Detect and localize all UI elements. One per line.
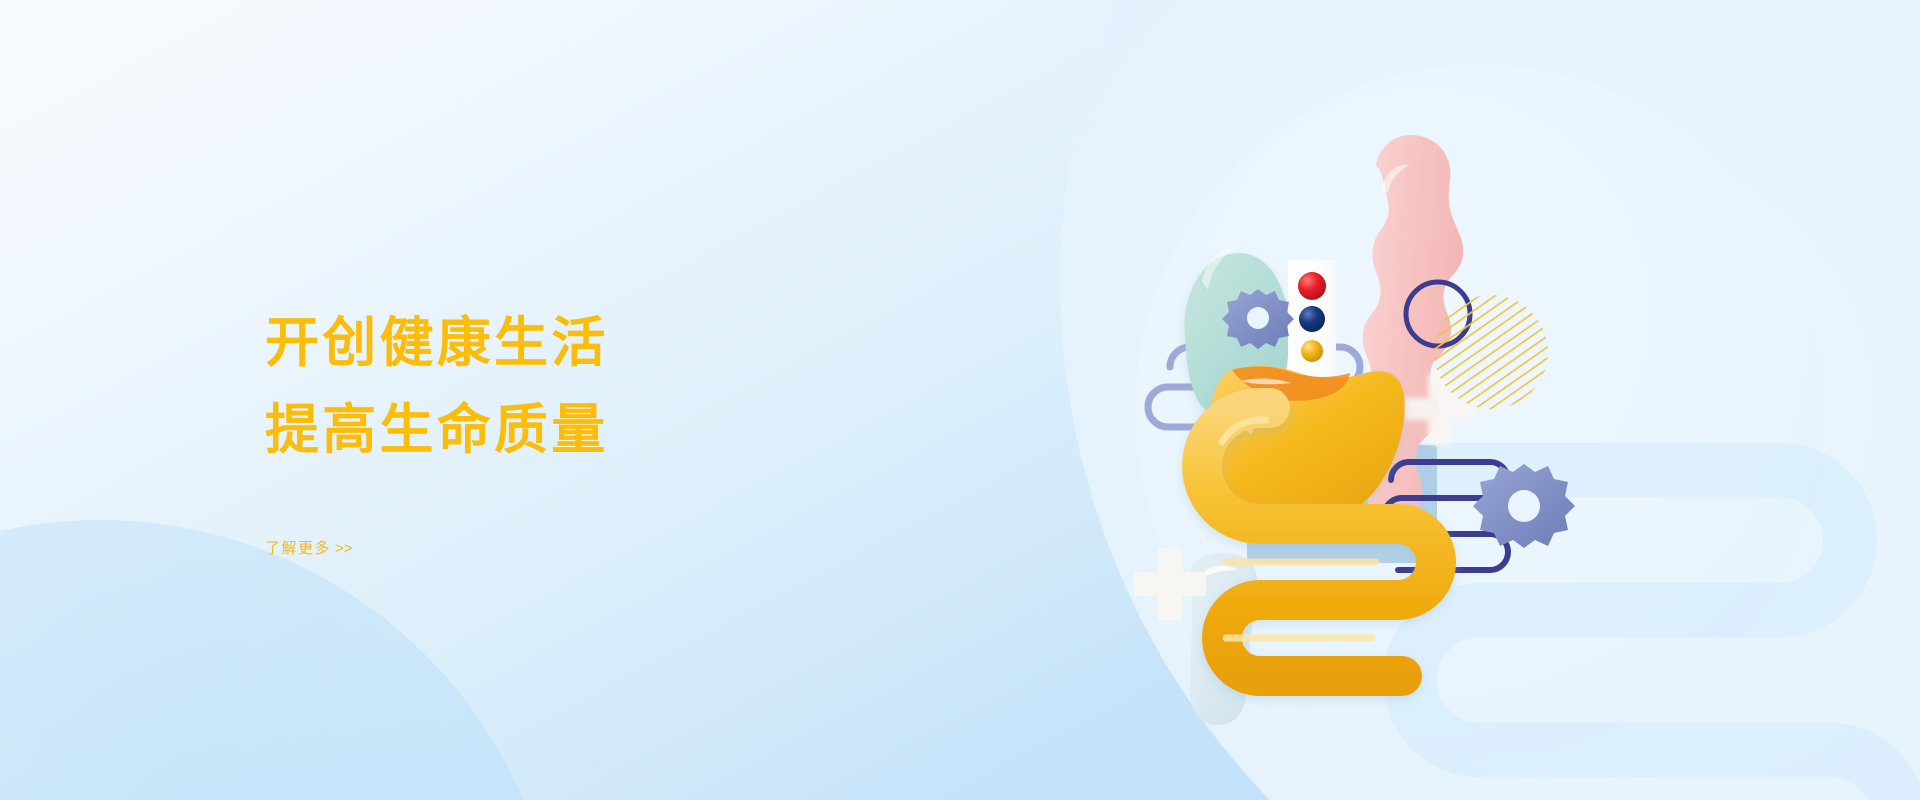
hatched-circle-icon	[1434, 295, 1548, 409]
hero-copy: 开创健康生活 提高生命质量 了解更多>>	[265, 300, 885, 558]
background-arc-left	[0, 520, 560, 800]
page-title-line2: 提高生命质量	[265, 387, 885, 474]
page-title-line1: 开创健康生活	[265, 300, 885, 387]
capsule-dot-yellow-icon	[1301, 340, 1323, 362]
learn-more-link[interactable]: 了解更多>>	[265, 537, 353, 558]
learn-more-label: 了解更多	[265, 540, 331, 557]
digestive-system-illustration	[1110, 70, 1830, 760]
chevron-right-icon: >>	[335, 540, 353, 557]
capsule-dot-navy-icon	[1299, 306, 1325, 332]
hero-banner: 开创健康生活 提高生命质量 了解更多>>	[0, 0, 1920, 800]
capsule-dot-red-icon	[1298, 272, 1326, 300]
